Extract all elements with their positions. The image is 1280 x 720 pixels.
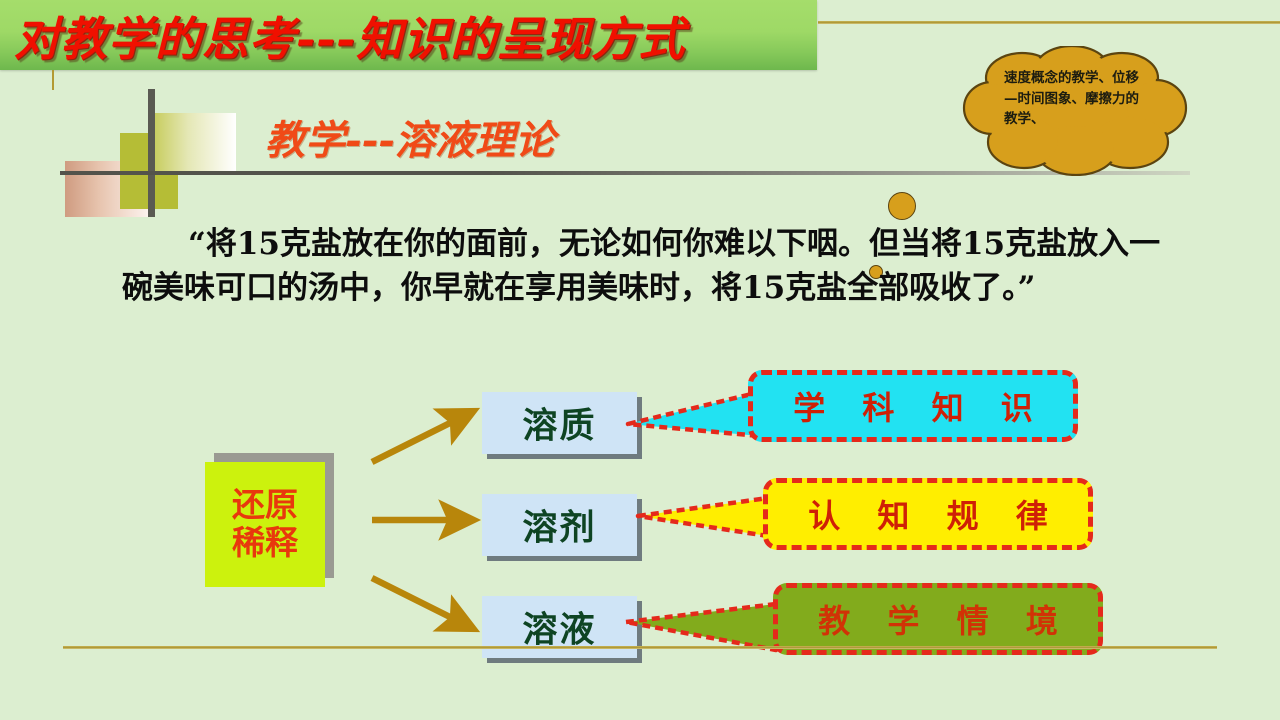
diagram-node-solution-label: 溶液 — [482, 602, 637, 653]
diagram-node-solvent[interactable]: 溶剂 — [482, 494, 637, 556]
diagram-source-label: 还原 稀释 — [205, 486, 325, 564]
title-banner: 对教学的思考---知识的呈现方式 — [0, 0, 817, 70]
callout-teaching-context[interactable]: 教 学 情 境 — [773, 583, 1103, 655]
arrow-to-solution — [372, 578, 472, 628]
callout-cognitive-law[interactable]: 认 知 规 律 — [763, 478, 1093, 550]
diagram-source-box[interactable]: 还原 稀释 — [205, 462, 325, 587]
cloud-tail-bubble-large — [888, 192, 916, 220]
top-gold-divider — [818, 21, 1280, 24]
slide-canvas: 对教学的思考---知识的呈现方式 教学---溶液理论 — [0, 0, 1280, 720]
bottom-gold-divider — [63, 646, 1217, 649]
callout-teaching-context-label: 教 学 情 境 — [778, 596, 1098, 642]
arrow-to-solute — [372, 412, 472, 462]
title-tick-mark — [52, 70, 54, 90]
diagram-node-solute[interactable]: 溶质 — [482, 392, 637, 454]
decor-vertical-bar — [148, 89, 155, 217]
decor-olive-gradient-rect — [148, 113, 236, 173]
subtitle: 教学---溶液理论 — [265, 108, 555, 166]
cloud-callout: 速度概念的教学、位移—时间图象、摩擦力的教学、 — [960, 46, 1190, 176]
decorative-graphic — [60, 85, 260, 220]
page-title: 对教学的思考---知识的呈现方式 — [14, 3, 685, 69]
callout-tail-cognitive-law — [632, 492, 777, 544]
callout-cognitive-law-label: 认 知 规 律 — [768, 491, 1088, 537]
quote-paragraph: “将15克盐放在你的面前，无论如何你难以下咽。但当将15克盐放入一碗美味可口的汤… — [122, 222, 1172, 310]
cloud-callout-text: 速度概念的教学、位移—时间图象、摩擦力的教学、 — [1004, 68, 1152, 130]
diagram-node-solvent-label: 溶剂 — [482, 500, 637, 551]
callout-tail-teaching-context — [620, 598, 785, 658]
callout-subject-knowledge[interactable]: 学 科 知 识 — [748, 370, 1078, 442]
diagram-node-solute-label: 溶质 — [482, 398, 637, 449]
callout-subject-knowledge-label: 学 科 知 识 — [753, 383, 1073, 429]
